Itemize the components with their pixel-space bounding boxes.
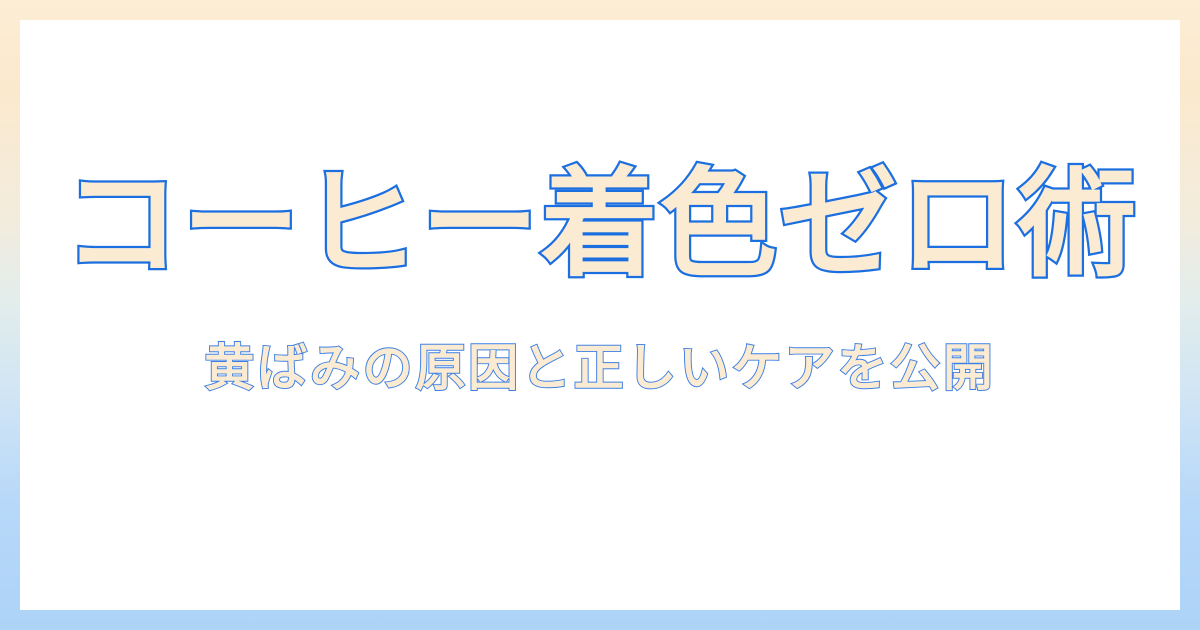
page-title: コーヒー着色ゼロ術 [20,162,1180,287]
subtitle-text: 黄ばみの原因と正しいケアを公開 [204,341,995,396]
headline-stack: コーヒー着色ゼロ術 黄ばみの原因と正しいケアを公開 [20,162,1180,396]
title-text: コーヒー着色ゼロ術 [63,162,1138,287]
card-inner-panel: コーヒー着色ゼロ術 黄ばみの原因と正しいケアを公開 [20,20,1180,610]
page-subtitle: 黄ばみの原因と正しいケアを公開 [20,341,1180,396]
og-image-card: コーヒー着色ゼロ術 黄ばみの原因と正しいケアを公開 [0,0,1200,630]
